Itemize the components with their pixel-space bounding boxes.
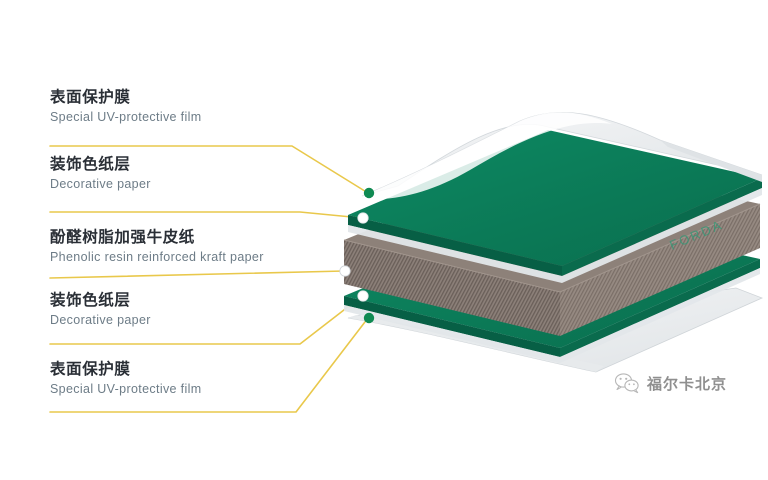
callout-phenolic-kraft-core: 酚醛树脂加强牛皮纸 Phenolic resin reinforced kraf… [50,228,264,265]
callout-en-label: Decorative paper [50,313,151,328]
callout-en-label: Special UV-protective film [50,382,202,397]
callout-decorative-paper-bottom: 装饰色纸层 Decorative paper [50,291,151,328]
callout-decorative-paper-top: 装饰色纸层 Decorative paper [50,155,151,192]
callout-cn-label: 装饰色纸层 [50,155,151,174]
wechat-logo-icon [614,372,640,394]
callout-surface-protective-film-bottom: 表面保护膜 Special UV-protective film [50,360,202,397]
connector-dot-4 [364,313,374,323]
connector-dot-1 [358,213,368,223]
watermark-text: 福尔卡北京 [647,373,727,394]
callout-en-label: Decorative paper [50,177,151,192]
watermark: 福尔卡北京 [614,372,727,394]
callout-en-label: Phenolic resin reinforced kraft paper [50,250,264,265]
callout-cn-label: 表面保护膜 [50,88,202,107]
leader-line-2 [50,271,344,278]
callout-cn-label: 装饰色纸层 [50,291,151,310]
leader-line-1 [50,212,362,218]
callout-en-label: Special UV-protective film [50,110,202,125]
connector-dot-2 [340,266,350,276]
connector-dot-0 [364,188,374,198]
diagram-canvas: FORDA 表面保护膜 Special UV-protective film 装… [0,0,768,480]
callout-surface-protective-film-top: 表面保护膜 Special UV-protective film [50,88,202,125]
callout-cn-label: 酚醛树脂加强牛皮纸 [50,228,264,247]
callout-cn-label: 表面保护膜 [50,360,202,379]
connector-dot-3 [358,291,368,301]
